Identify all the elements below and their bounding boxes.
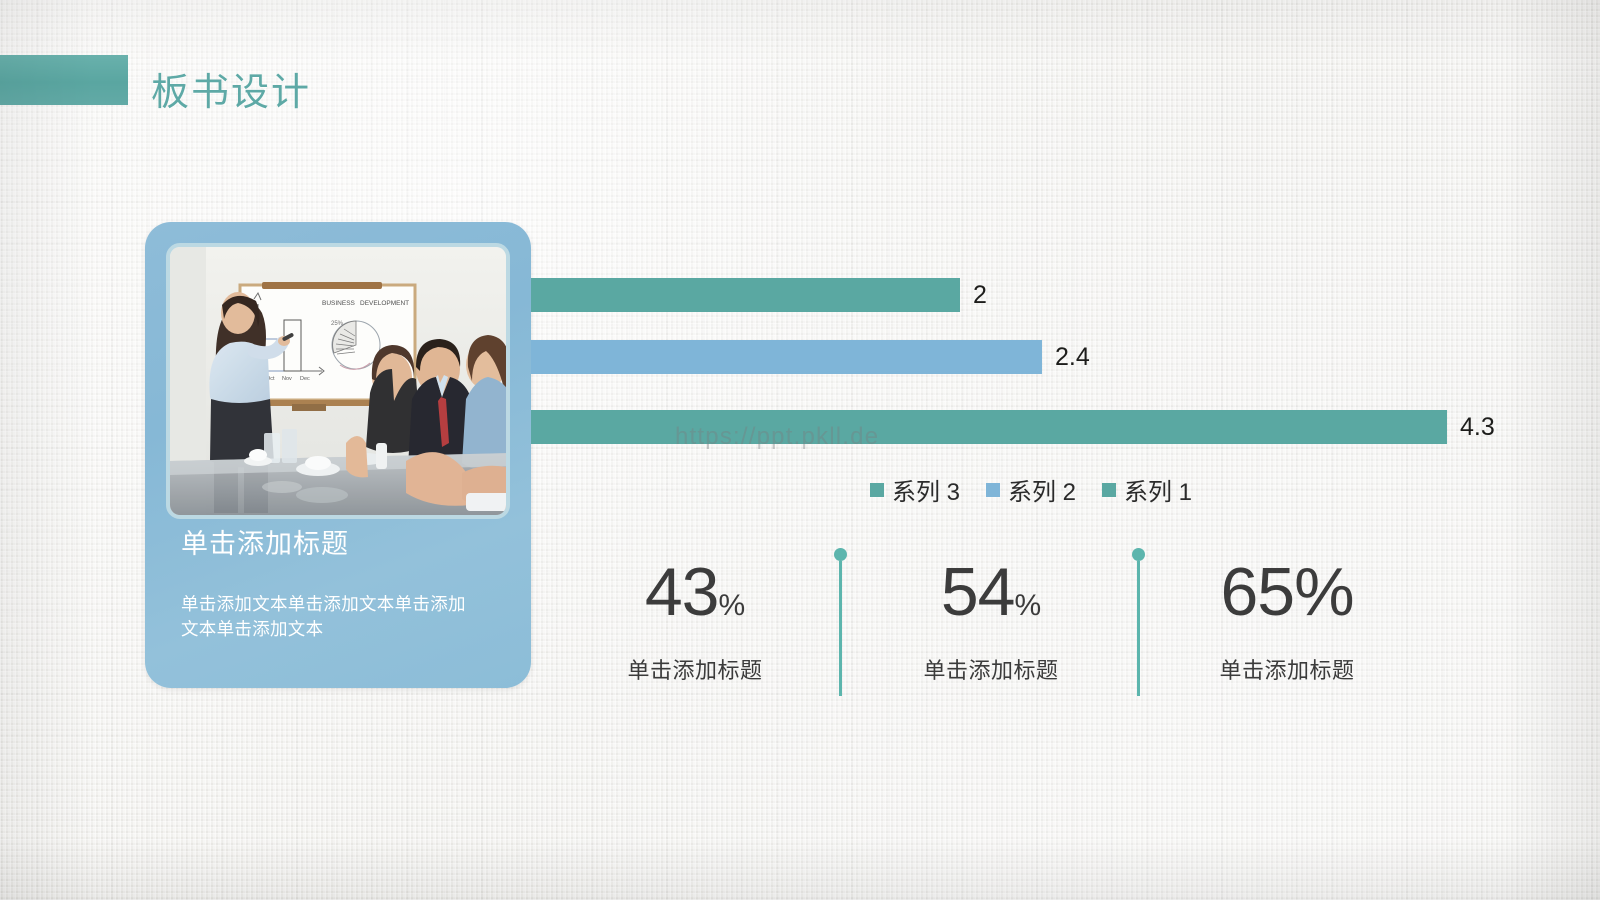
divider-line [1137,561,1140,696]
bar-row[interactable]: 4.3 [531,410,1495,444]
stat-number: 43 [645,554,719,630]
stat-value: 65% [1152,558,1422,626]
bar-row[interactable]: 2.4 [531,340,1090,374]
stat-divider-2 [1135,548,1141,696]
card-body-text: 单击添加文本单击添加文本单击添加文本单击添加文本 [181,592,481,643]
bar-row[interactable]: 2 [531,278,987,312]
stat-percent-sign: % [1294,554,1353,630]
divider-dot-icon [1132,548,1145,561]
legend-swatch-icon [986,483,1000,497]
legend-item[interactable]: 系列 3 [870,472,960,507]
bar-series-2[interactable] [531,340,1042,374]
stat-label: 单击添加标题 [856,653,1126,685]
stat-percent-sign: % [718,589,745,622]
legend-label: 系列 3 [892,472,960,507]
stat-item-2[interactable]: 54% 单击添加标题 [856,558,1126,685]
card-title: 单击添加标题 [181,522,349,561]
stat-label: 单击添加标题 [1152,653,1422,685]
bar-chart: 2 2.4 4.3 [531,270,1531,470]
page-title: 板书设计 [151,61,311,116]
stat-number: 65 [1220,554,1294,630]
meeting-photo-illustration: Oct Nov Dec BUSINESS DEVELOPMENT 25% [170,247,506,515]
bar-series-3[interactable] [531,410,1447,444]
stat-number: 54 [941,554,1015,630]
bar-series-1[interactable] [531,278,960,312]
legend-label: 系列 1 [1124,472,1192,507]
stat-value: 54% [856,558,1126,626]
stat-percent-sign: % [1014,589,1041,622]
bar-value-label: 2.4 [1055,343,1090,372]
meeting-photo: Oct Nov Dec BUSINESS DEVELOPMENT 25% [170,247,506,515]
photo-frame: Oct Nov Dec BUSINESS DEVELOPMENT 25% [166,243,510,519]
stat-item-1[interactable]: 43% 单击添加标题 [560,558,830,685]
chart-legend: 系列 3 系列 2 系列 1 [531,472,1531,507]
stat-divider-1 [837,548,843,696]
divider-dot-icon [834,548,847,561]
legend-item[interactable]: 系列 2 [986,472,1076,507]
divider-line [839,561,842,696]
stats-row: 43% 单击添加标题 54% 单击添加标题 65% 单击添加标题 [560,548,1490,696]
stat-value: 43% [560,558,830,626]
stat-label: 单击添加标题 [560,653,830,685]
stat-item-3[interactable]: 65% 单击添加标题 [1152,558,1422,685]
photo-card[interactable]: Oct Nov Dec BUSINESS DEVELOPMENT 25% [145,222,531,688]
legend-label: 系列 2 [1008,472,1076,507]
bar-value-label: 4.3 [1460,413,1495,442]
header-accent-bar [0,55,128,105]
legend-item[interactable]: 系列 1 [1102,472,1192,507]
legend-swatch-icon [1102,483,1116,497]
bar-value-label: 2 [973,281,987,310]
legend-swatch-icon [870,483,884,497]
